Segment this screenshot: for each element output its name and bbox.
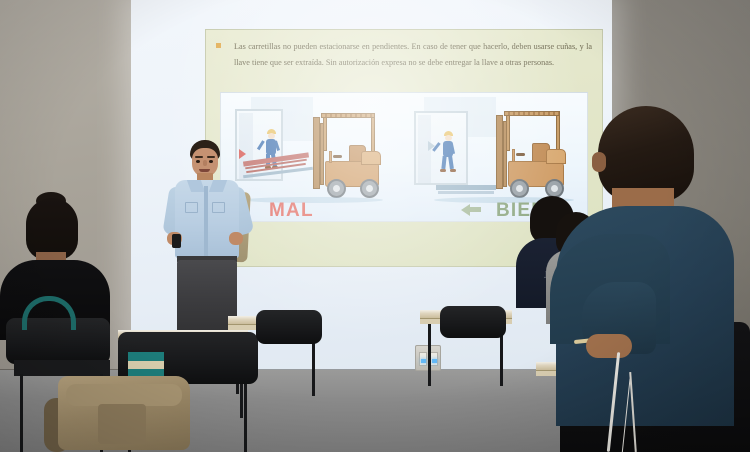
chair-leg xyxy=(20,374,23,452)
classroom-training-photo: Las carretillas no pueden estacionarse e… xyxy=(0,0,750,452)
presenter-shirt-pocket-left xyxy=(185,202,198,213)
chair-seat xyxy=(14,360,110,376)
backpack-flap xyxy=(66,384,182,406)
attendee-ear xyxy=(592,152,606,172)
bien-arrow-icon xyxy=(461,204,470,216)
chair-back xyxy=(256,310,322,344)
bien-arrow-tail xyxy=(470,207,481,212)
illustration-worker-right xyxy=(438,131,462,181)
presenter-hand-right xyxy=(229,232,243,245)
attendee-head xyxy=(26,198,78,260)
chair-leg xyxy=(244,384,247,452)
light-switch-right[interactable] xyxy=(430,352,438,366)
presenter-shirt-pocket-right xyxy=(212,202,225,213)
desk-leg xyxy=(428,324,431,386)
presenter-instructor xyxy=(163,140,269,340)
verdict-label-mal: MAL xyxy=(269,200,314,222)
presenter-mouth xyxy=(199,169,210,172)
attendee-front-right xyxy=(556,106,746,452)
presenter-shirt-placket xyxy=(204,186,208,256)
light-switch-left[interactable] xyxy=(419,352,427,366)
chair-back xyxy=(440,306,506,338)
presenter-nose xyxy=(203,160,207,166)
presentation-clicker xyxy=(172,234,181,248)
attendee-hand xyxy=(586,334,632,358)
backpack-front-pocket xyxy=(98,404,146,444)
slide-body-text: Las carretillas no pueden estacionarse e… xyxy=(218,39,592,71)
